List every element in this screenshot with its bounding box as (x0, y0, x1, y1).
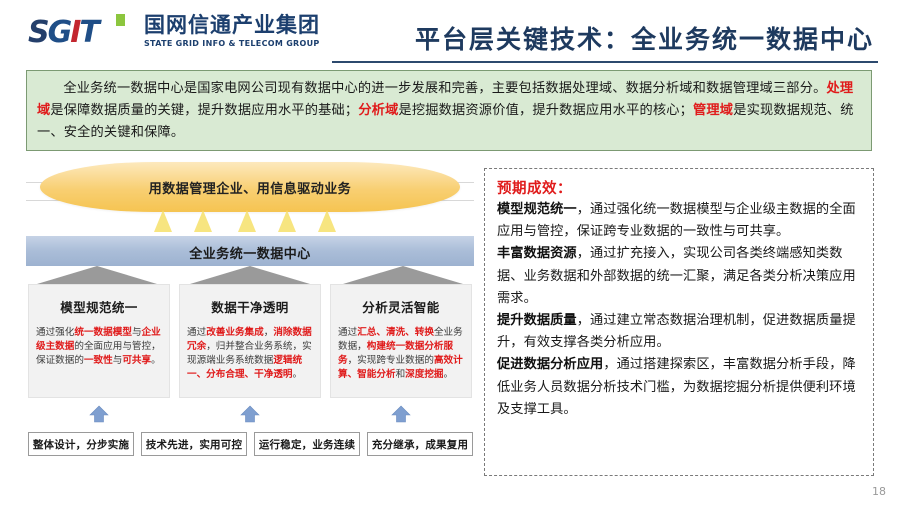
title-underline-divider (332, 61, 878, 63)
summary-segment-2: 是保障数据质量的关键，提升数据应用水平的基础； (50, 103, 358, 118)
light-ray-icon-4 (278, 210, 296, 232)
up-arrow-icon-1 (89, 404, 109, 424)
pillar-body-highlight: 深度挖掘 (405, 369, 443, 380)
page-number: 18 (872, 485, 886, 498)
up-arrow-icon-2 (240, 404, 260, 424)
principle-tag-2: 技术先进，实用可控 (141, 432, 247, 456)
pillar-body-highlight: 改善业务集成 (206, 327, 264, 338)
pillar-card-model-standard: 模型规范统一 通过强化统一数据模型与企业级主数据的全面应用与管控，保证数据的一致… (28, 284, 170, 398)
pillar-body-text: 与 (113, 355, 123, 366)
gray-mountain-icon-2 (190, 266, 310, 284)
arch-dome-shape: 用数据管理企业、用信息驱动业务 (40, 162, 460, 212)
gray-mountain-icon-3 (343, 266, 463, 284)
light-ray-icon-5 (318, 210, 336, 232)
pillar-body-text: 与 (132, 327, 142, 338)
pillar-body-text: 通过 (338, 327, 357, 338)
summary-callout-box: 全业务统一数据中心是国家电网公司现有数据中心的进一步发展和完善，主要包括数据处理… (26, 70, 872, 151)
light-ray-icon-2 (194, 210, 212, 232)
sgit-logomark-icon: SGIT (28, 14, 136, 52)
pillar-body-highlight: 一致性 (84, 355, 113, 366)
pillar-title: 模型规范统一 (29, 297, 169, 316)
expected-outcomes-heading: 预期成效： (497, 177, 863, 198)
outcome-lead-4: 促进数据分析应用 (497, 357, 603, 372)
pillar-card-data-clean: 数据干净透明 通过改善业务集成，消除数据冗余，归并整合业务系统，实现源端业务系统… (179, 284, 321, 398)
pillar-body-text: 和 (396, 369, 406, 380)
outcome-item-4: 促进数据分析应用，通过搭建探索区，丰富数据分析手段，降低业务人员数据分析技术门槛… (497, 354, 863, 421)
pillar-body-text: ， (264, 327, 274, 338)
principle-tag-1: 整体设计，分步实施 (28, 432, 134, 456)
architecture-diagram: 用数据管理企业、用信息驱动业务 全业务统一数据中心 模型规范统一 通过强化统一数… (26, 158, 474, 476)
unified-data-center-bar: 全业务统一数据中心 (26, 236, 474, 266)
pillar-body-text: 。 (293, 369, 303, 380)
outcome-lead-2: 丰富数据资源 (497, 246, 577, 261)
gray-mountain-icon-1 (37, 266, 157, 284)
summary-paragraph: 全业务统一数据中心是国家电网公司现有数据中心的进一步发展和完善，主要包括数据处理… (37, 78, 861, 144)
expected-outcomes-panel: 预期成效： 模型规范统一，通过强化统一数据模型与企业级主数据的全面应用与管控，保… (484, 168, 874, 476)
pillar-card-analysis-smart: 分析灵活智能 通过汇总、清洗、转换全业务数据，构建统一数据分析服务，实现跨专业数… (330, 284, 472, 398)
page-title: 平台层关键技术：全业务统一数据中心 (415, 20, 874, 56)
pillar-body-text: 通过 (187, 327, 206, 338)
outcome-item-3: 提升数据质量，通过建立常态数据治理机制，促进数据质量提升，有效支撑各类分析应用。 (497, 310, 863, 354)
pillar-body-text: ，实现跨专业数据的 (348, 355, 434, 366)
summary-highlight-analysis-domain: 分析域 (358, 103, 398, 118)
slide-header: SGIT 国网信通产业集团 STATE GRID INFO & TELECOM … (0, 0, 900, 66)
brand-wordmark: 国网信通产业集团 STATE GRID INFO & TELECOM GROUP (144, 14, 320, 48)
outcome-item-1: 模型规范统一，通过强化统一数据模型与企业级主数据的全面应用与管控，保证跨专业数据… (497, 199, 863, 243)
logo-green-accent-icon (116, 14, 125, 26)
principle-tag-3: 运行稳定，业务连续 (254, 432, 360, 456)
arch-label: 用数据管理企业、用信息驱动业务 (40, 178, 460, 197)
summary-segment-3: 是挖掘数据资源价值，提升数据应用水平的核心； (398, 103, 693, 118)
unified-data-center-label: 全业务统一数据中心 (26, 243, 474, 262)
principle-tag-4: 充分继承，成果复用 (367, 432, 473, 456)
brand-name-cn: 国网信通产业集团 (144, 14, 320, 37)
brand-name-en: STATE GRID INFO & TELECOM GROUP (144, 39, 320, 48)
pillar-body: 通过汇总、清洗、转换全业务数据，构建统一数据分析服务，实现跨专业数据的高效计算、… (338, 326, 464, 382)
light-ray-icon-3 (238, 210, 256, 232)
brand-logo: SGIT 国网信通产业集团 STATE GRID INFO & TELECOM … (28, 14, 320, 52)
outcome-lead-1: 模型规范统一 (497, 202, 577, 217)
pillar-body-highlight: 汇总、清洗、转换 (357, 327, 434, 338)
arch-banner-group: 用数据管理企业、用信息驱动业务 (26, 160, 474, 232)
sgit-logomark-text: SGIT (28, 16, 98, 50)
light-ray-icon-1 (154, 210, 172, 232)
pillar-body: 通过改善业务集成，消除数据冗余，归并整合业务系统，实现源端业务系统数据逻辑统一、… (187, 326, 313, 382)
pillar-body-text: 通过强化 (36, 327, 74, 338)
outcome-item-2: 丰富数据资源，通过扩充接入，实现公司各类终端感知类数据、业务数据和外部数据的统一… (497, 243, 863, 310)
pillar-body: 通过强化统一数据模型与企业级主数据的全面应用与管控，保证数据的一致性与可共享。 (36, 326, 162, 368)
pillar-body-highlight: 可共享 (122, 355, 151, 366)
outcome-lead-3: 提升数据质量 (497, 313, 577, 328)
pillar-body-text: 。 (444, 369, 454, 380)
summary-highlight-management-domain: 管理域 (693, 103, 733, 118)
pillar-title: 分析灵活智能 (331, 297, 471, 316)
summary-segment-1: 全业务统一数据中心是国家电网公司现有数据中心的进一步发展和完善，主要包括数据处理… (63, 81, 826, 96)
up-arrow-icon-3 (391, 404, 411, 424)
pillar-body-text: 。 (151, 355, 161, 366)
pillar-body-highlight: 统一数据模型 (74, 327, 132, 338)
pillar-title: 数据干净透明 (180, 297, 320, 316)
